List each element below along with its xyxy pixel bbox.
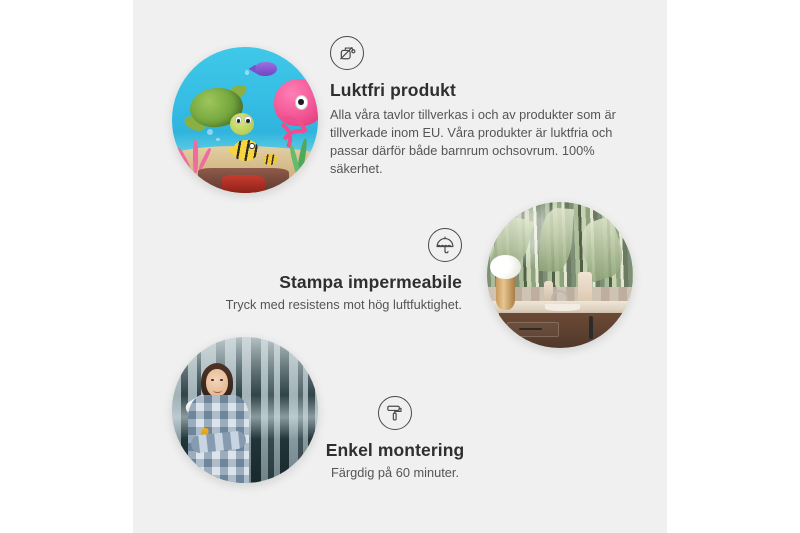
feature-title: Luktfri produkt bbox=[330, 80, 630, 101]
feature-body: Tryck med resistens mot hög luftfuktighe… bbox=[182, 296, 462, 314]
feature-odourless: Luktfri produkt Alla våra tavlor tillver… bbox=[330, 36, 630, 179]
feature-title: Enkel montering bbox=[295, 440, 495, 461]
feature-body: Alla våra tavlor tillverkas i och av pro… bbox=[330, 106, 630, 179]
icon-row bbox=[182, 228, 462, 262]
icon-row bbox=[295, 396, 495, 430]
screenshot-canvas: Luktfri produkt Alla våra tavlor tillver… bbox=[0, 0, 800, 533]
photo-underwater bbox=[172, 47, 318, 193]
underwater-illustration bbox=[172, 47, 318, 193]
no-scent-icon bbox=[330, 36, 364, 70]
feature-title: Stampa impermeabile bbox=[182, 272, 462, 293]
feature-body: Färgdig på 60 minuter. bbox=[295, 464, 495, 482]
icon-row bbox=[330, 36, 630, 70]
umbrella-icon bbox=[428, 228, 462, 262]
paint-roller-icon bbox=[378, 396, 412, 430]
feature-assembly: Enkel montering Färgdig på 60 minuter. bbox=[295, 396, 495, 482]
feature-waterproof: Stampa impermeabile Tryck med resistens … bbox=[182, 228, 462, 314]
photo-bathroom bbox=[487, 202, 633, 348]
bathroom-illustration bbox=[487, 202, 633, 348]
